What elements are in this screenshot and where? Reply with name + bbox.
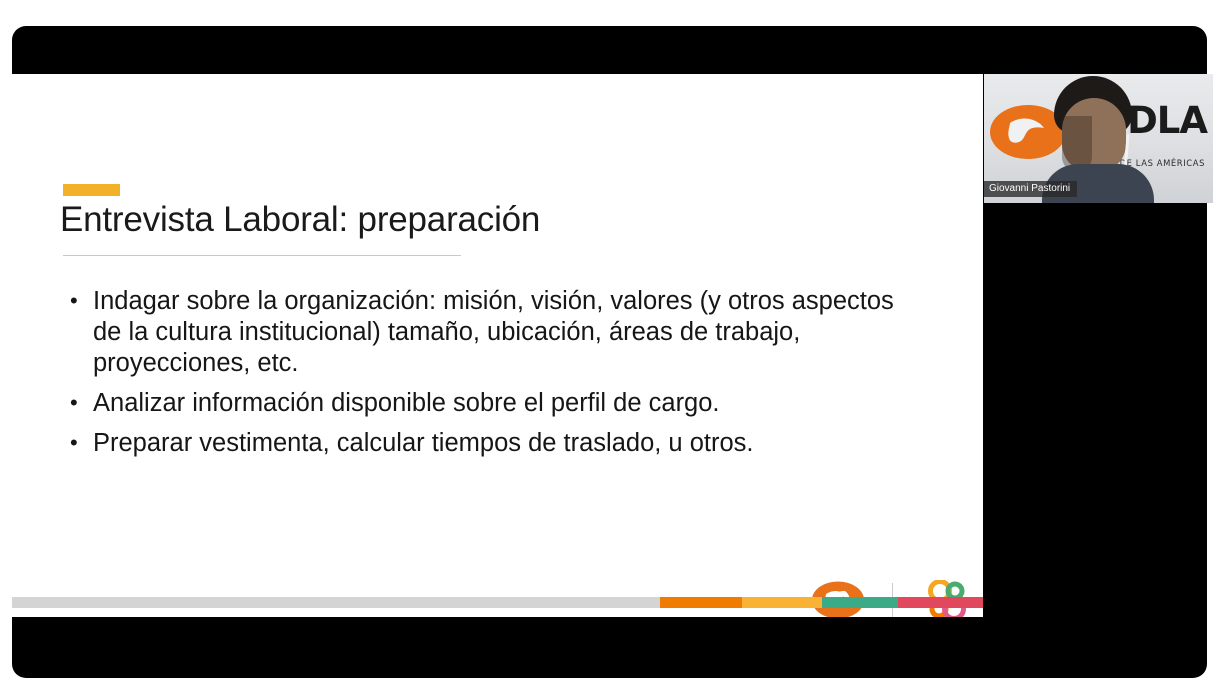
slide-footer-logos: UDLA UNIVERSIDAD DE LAS AMÉRICAS CENTRO … [794,572,983,617]
slide-bullet-list: Indagar sobre la organización: misión, v… [67,286,927,468]
title-divider-rule [63,255,461,256]
list-item: Indagar sobre la organización: misión, v… [67,286,927,379]
progress-segment-green [822,597,898,608]
shared-slide-surface: Entrevista Laboral: preparación Indagar … [12,74,983,617]
participant-name-label: Giovanni Pastorini [984,181,1077,197]
video-tile-right-gutter [1213,74,1219,203]
progress-segment-yellow [742,597,822,608]
page-title: Entrevista Laboral: preparación [60,200,940,240]
progress-segment-track [12,597,660,608]
list-item: Preparar vestimenta, calcular tiempos de… [67,428,927,459]
progress-segment-orange [660,597,742,608]
list-item: Analizar información disponible sobre el… [67,388,927,419]
progress-segment-red [898,597,983,608]
title-accent-bar [63,184,120,196]
participant-video-tile[interactable]: DLA D DE LAS AMÉRICAS Giovanni Pastorini [984,74,1213,203]
slide-progress-strip [12,597,983,608]
